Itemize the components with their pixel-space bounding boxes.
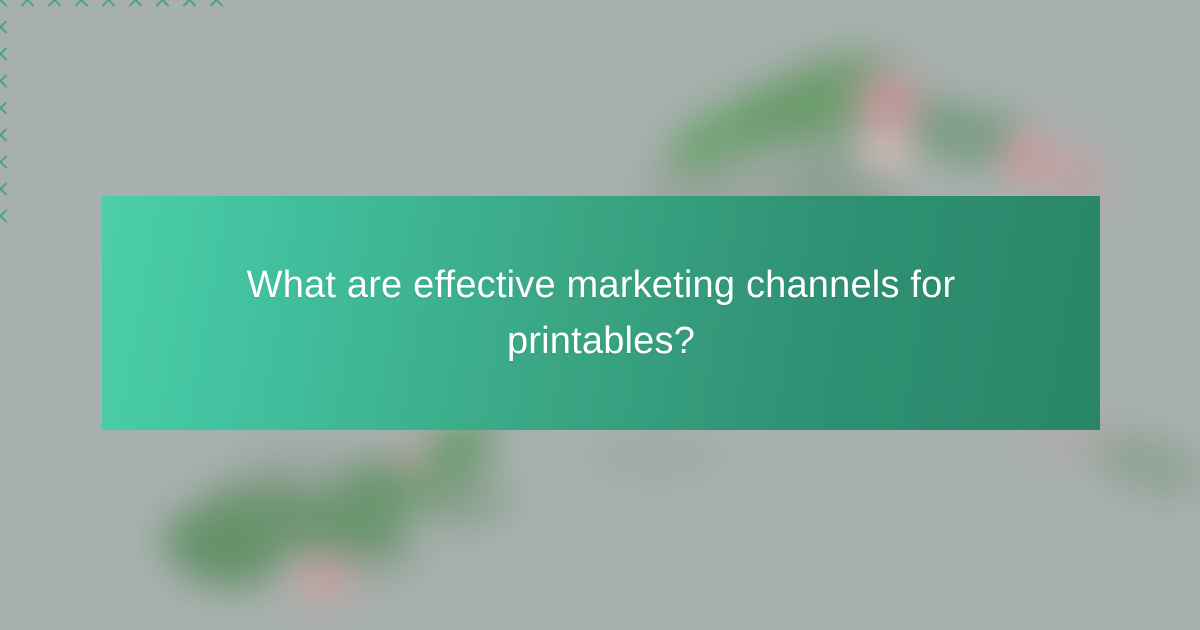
cross-stitch-x-icon bbox=[176, 0, 203, 14]
cross-stitch-empty-cell bbox=[1065, 606, 1092, 630]
cross-stitch-empty-cell bbox=[14, 68, 41, 95]
cross-stitch-empty-cell bbox=[203, 68, 230, 95]
cross-stitch-empty-cell bbox=[1092, 606, 1119, 630]
cross-stitch-empty-cell bbox=[1038, 552, 1065, 579]
cross-stitch-empty-cell bbox=[95, 149, 122, 176]
cross-stitch-empty-cell bbox=[1092, 579, 1119, 606]
cross-stitch-empty-cell bbox=[1065, 552, 1092, 579]
cross-stitch-x-icon bbox=[0, 68, 14, 95]
cross-stitch-empty-cell bbox=[984, 606, 1011, 630]
cross-stitch-empty-cell bbox=[1146, 444, 1173, 471]
cross-stitch-empty-cell bbox=[14, 122, 41, 149]
cross-stitch-empty-cell bbox=[14, 176, 41, 203]
cross-stitch-empty-cell bbox=[149, 95, 176, 122]
cross-stitch-empty-cell bbox=[1119, 498, 1146, 525]
cross-stitch-empty-cell bbox=[1146, 552, 1173, 579]
cross-stitch-empty-cell bbox=[149, 122, 176, 149]
page-title: What are effective marketing channels fo… bbox=[241, 257, 961, 369]
cross-stitch-x-icon bbox=[14, 0, 41, 14]
social-card-canvas: What are effective marketing channels fo… bbox=[0, 0, 1200, 630]
cross-stitch-empty-cell bbox=[14, 14, 41, 41]
cross-stitch-empty-cell bbox=[41, 176, 68, 203]
cross-stitch-empty-cell bbox=[149, 41, 176, 68]
cross-stitch-empty-cell bbox=[176, 68, 203, 95]
cross-stitch-empty-cell bbox=[1038, 471, 1065, 498]
cross-stitch-empty-cell bbox=[41, 41, 68, 68]
cross-stitch-empty-cell bbox=[95, 41, 122, 68]
cross-stitch-x-icon bbox=[0, 95, 14, 122]
cross-stitch-empty-cell bbox=[1146, 606, 1173, 630]
cross-stitch-empty-cell bbox=[1146, 579, 1173, 606]
cross-stitch-empty-cell bbox=[1173, 552, 1200, 579]
cross-stitch-empty-cell bbox=[1119, 417, 1146, 444]
cross-stitch-empty-cell bbox=[149, 149, 176, 176]
title-banner: What are effective marketing channels fo… bbox=[102, 196, 1100, 430]
cross-stitch-empty-cell bbox=[1092, 444, 1119, 471]
cross-stitch-empty-cell bbox=[203, 122, 230, 149]
cross-stitch-empty-cell bbox=[68, 14, 95, 41]
cross-stitch-empty-cell bbox=[176, 95, 203, 122]
cross-stitch-x-icon bbox=[0, 0, 14, 14]
cross-stitch-empty-cell bbox=[1146, 417, 1173, 444]
cross-stitch-empty-cell bbox=[1092, 552, 1119, 579]
cross-stitch-empty-cell bbox=[41, 95, 68, 122]
cross-stitch-empty-cell bbox=[14, 203, 41, 230]
cross-stitch-empty-cell bbox=[1173, 525, 1200, 552]
cross-stitch-empty-cell bbox=[95, 122, 122, 149]
cross-stitch-empty-cell bbox=[1038, 579, 1065, 606]
cross-stitch-empty-cell bbox=[41, 68, 68, 95]
cross-stitch-x-icon bbox=[0, 14, 14, 41]
cross-stitch-empty-cell bbox=[1011, 444, 1038, 471]
cross-stitch-empty-cell bbox=[176, 149, 203, 176]
cross-stitch-empty-cell bbox=[95, 68, 122, 95]
cross-stitch-x-icon bbox=[0, 176, 14, 203]
cross-stitch-x-icon bbox=[0, 122, 14, 149]
cross-stitch-empty-cell bbox=[41, 14, 68, 41]
cross-stitch-empty-cell bbox=[1065, 525, 1092, 552]
cross-stitch-empty-cell bbox=[176, 14, 203, 41]
cross-stitch-empty-cell bbox=[1065, 498, 1092, 525]
cross-stitch-empty-cell bbox=[176, 122, 203, 149]
cross-stitch-empty-cell bbox=[1092, 498, 1119, 525]
cross-stitch-empty-cell bbox=[203, 14, 230, 41]
cross-stitch-x-icon bbox=[68, 0, 95, 14]
cross-stitch-empty-cell bbox=[984, 579, 1011, 606]
cross-stitch-empty-cell bbox=[1011, 579, 1038, 606]
cross-stitch-empty-cell bbox=[1011, 498, 1038, 525]
cross-stitch-empty-cell bbox=[1092, 525, 1119, 552]
cross-stitch-empty-cell bbox=[1038, 498, 1065, 525]
cross-stitch-empty-cell bbox=[68, 68, 95, 95]
cross-stitch-empty-cell bbox=[203, 149, 230, 176]
cross-stitch-empty-cell bbox=[122, 14, 149, 41]
cross-stitch-empty-cell bbox=[14, 149, 41, 176]
cross-stitch-empty-cell bbox=[1173, 579, 1200, 606]
cross-stitch-x-icon bbox=[0, 203, 14, 230]
cross-stitch-empty-cell bbox=[1173, 471, 1200, 498]
cross-stitch-empty-cell bbox=[1173, 417, 1200, 444]
cross-stitch-empty-cell bbox=[68, 122, 95, 149]
cross-stitch-empty-cell bbox=[95, 95, 122, 122]
cross-stitch-empty-cell bbox=[41, 122, 68, 149]
cross-stitch-empty-cell bbox=[984, 552, 1011, 579]
cross-stitch-x-icon bbox=[122, 0, 149, 14]
cross-stitch-empty-cell bbox=[68, 149, 95, 176]
cross-stitch-empty-cell bbox=[1011, 471, 1038, 498]
cross-stitch-empty-cell bbox=[1119, 606, 1146, 630]
cross-stitch-empty-cell bbox=[1173, 444, 1200, 471]
cross-stitch-empty-cell bbox=[1119, 444, 1146, 471]
cross-stitch-empty-cell bbox=[122, 41, 149, 68]
cross-stitch-empty-cell bbox=[68, 41, 95, 68]
cross-stitch-pattern-bottom-right bbox=[984, 417, 1200, 630]
cross-stitch-empty-cell bbox=[1173, 498, 1200, 525]
cross-stitch-empty-cell bbox=[1146, 525, 1173, 552]
cross-stitch-x-icon bbox=[0, 41, 14, 68]
cross-stitch-empty-cell bbox=[1092, 471, 1119, 498]
cross-stitch-empty-cell bbox=[1119, 525, 1146, 552]
cross-stitch-empty-cell bbox=[149, 68, 176, 95]
cross-stitch-empty-cell bbox=[984, 471, 1011, 498]
cross-stitch-empty-cell bbox=[122, 95, 149, 122]
cross-stitch-empty-cell bbox=[41, 203, 68, 230]
cross-stitch-empty-cell bbox=[1011, 525, 1038, 552]
cross-stitch-empty-cell bbox=[1065, 579, 1092, 606]
cross-stitch-empty-cell bbox=[203, 41, 230, 68]
cross-stitch-x-icon bbox=[95, 0, 122, 14]
cross-stitch-empty-cell bbox=[122, 149, 149, 176]
cross-stitch-empty-cell bbox=[1038, 606, 1065, 630]
cross-stitch-empty-cell bbox=[1119, 471, 1146, 498]
cross-stitch-empty-cell bbox=[1119, 579, 1146, 606]
cross-stitch-empty-cell bbox=[1011, 606, 1038, 630]
cross-stitch-empty-cell bbox=[1146, 498, 1173, 525]
cross-stitch-empty-cell bbox=[1038, 525, 1065, 552]
cross-stitch-empty-cell bbox=[122, 122, 149, 149]
cross-stitch-empty-cell bbox=[1146, 471, 1173, 498]
cross-stitch-empty-cell bbox=[1038, 444, 1065, 471]
cross-stitch-x-icon bbox=[203, 0, 230, 14]
cross-stitch-empty-cell bbox=[984, 498, 1011, 525]
cross-stitch-empty-cell bbox=[95, 14, 122, 41]
cross-stitch-empty-cell bbox=[203, 95, 230, 122]
cross-stitch-empty-cell bbox=[14, 95, 41, 122]
cross-stitch-empty-cell bbox=[984, 444, 1011, 471]
cross-stitch-x-icon bbox=[41, 0, 68, 14]
cross-stitch-x-icon bbox=[149, 0, 176, 14]
cross-stitch-empty-cell bbox=[149, 14, 176, 41]
cross-stitch-empty-cell bbox=[14, 41, 41, 68]
cross-stitch-empty-cell bbox=[1119, 552, 1146, 579]
cross-stitch-empty-cell bbox=[1065, 444, 1092, 471]
cross-stitch-empty-cell bbox=[68, 203, 95, 230]
cross-stitch-empty-cell bbox=[122, 68, 149, 95]
cross-stitch-x-icon bbox=[0, 149, 14, 176]
cross-stitch-empty-cell bbox=[68, 176, 95, 203]
cross-stitch-empty-cell bbox=[984, 525, 1011, 552]
cross-stitch-empty-cell bbox=[1173, 606, 1200, 630]
cross-stitch-empty-cell bbox=[41, 149, 68, 176]
cross-stitch-empty-cell bbox=[176, 41, 203, 68]
cross-stitch-empty-cell bbox=[1065, 471, 1092, 498]
cross-stitch-empty-cell bbox=[1011, 552, 1038, 579]
cross-stitch-empty-cell bbox=[68, 95, 95, 122]
